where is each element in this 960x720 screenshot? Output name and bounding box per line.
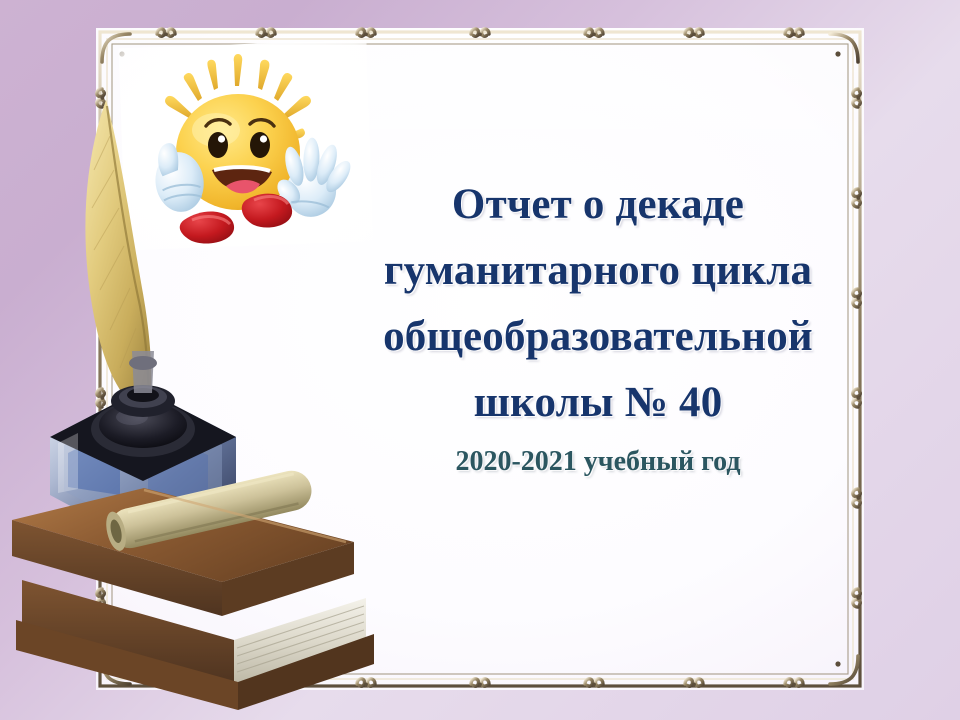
title-line-3: общеобразовательной xyxy=(318,304,878,370)
title-line-4: школы № 40 xyxy=(318,370,878,436)
subtitle-academic-year: 2020-2021 учебный год xyxy=(318,442,878,482)
stacked-books-and-scroll xyxy=(0,470,394,720)
title-block: Отчет о декаде гуманитарного цикла общео… xyxy=(318,172,878,482)
title-line-2: гуманитарного цикла xyxy=(318,238,878,304)
title-line-1: Отчет о декаде xyxy=(318,172,878,238)
presentation-slide: Отчет о декаде гуманитарного цикла общео… xyxy=(0,0,960,720)
